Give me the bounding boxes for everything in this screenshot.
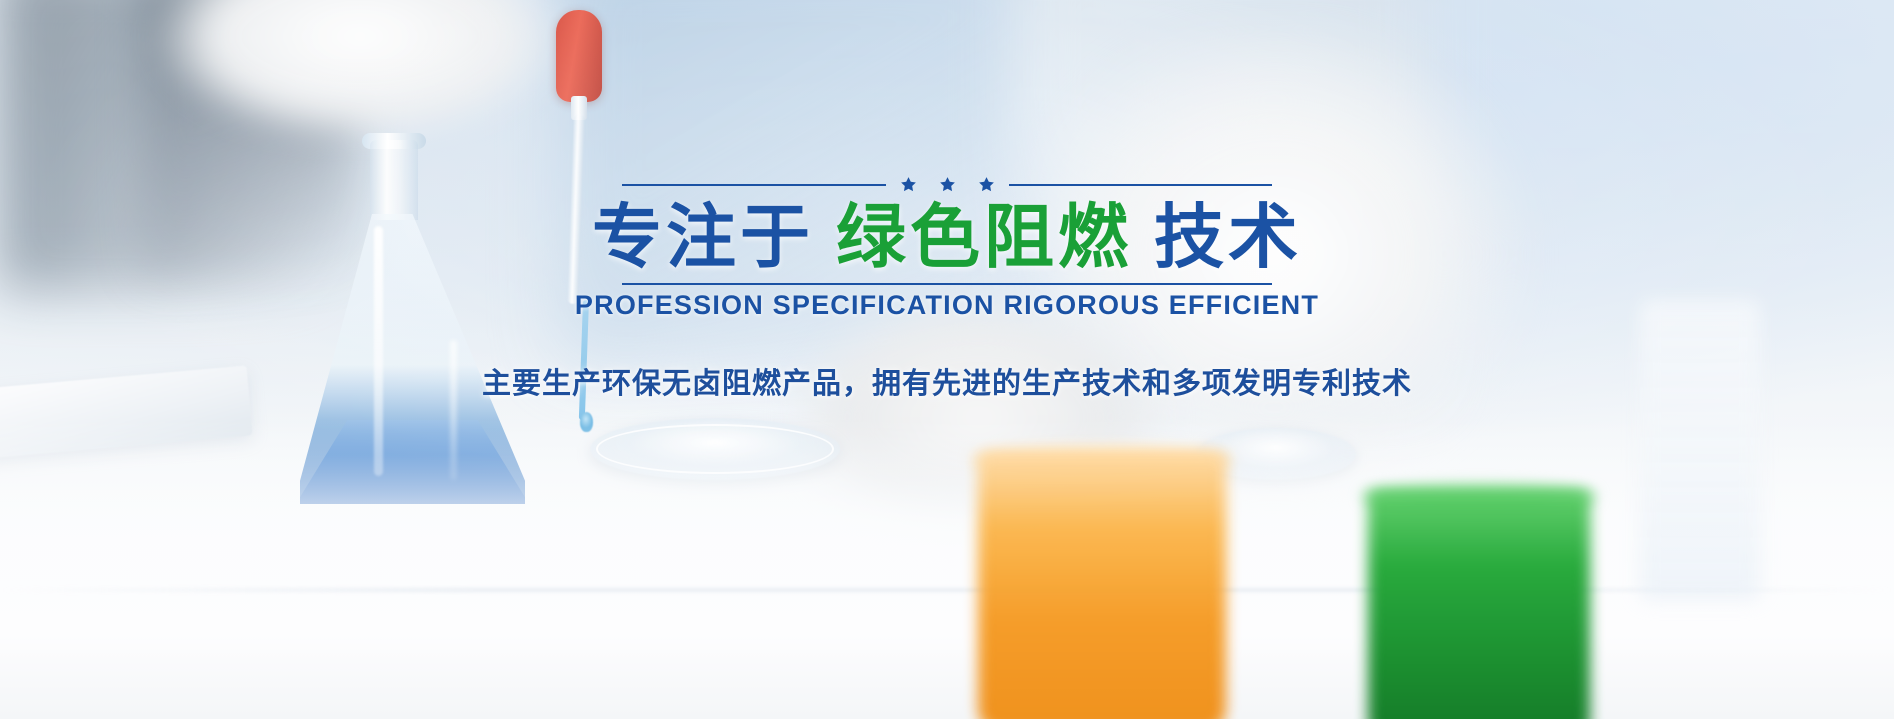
banner-copy: 专注于绿色阻燃技术 PROFESSION SPECIFICATION RIGOR… <box>0 0 1894 719</box>
divider-line-left <box>622 184 886 186</box>
headline-part-2: 绿色阻燃 <box>836 196 1132 278</box>
star-icon <box>900 176 917 193</box>
headline: 专注于绿色阻燃技术 <box>592 196 1302 279</box>
description-chinese: 主要生产环保无卤阻燃产品，拥有先进的生产技术和多项发明专利技术 <box>482 360 1412 402</box>
divider-line-right <box>1009 184 1273 186</box>
divider-line-bottom <box>622 283 1272 285</box>
star-icon <box>939 176 956 193</box>
decorative-divider-top <box>622 176 1272 193</box>
headline-part-3: 技术 <box>1154 196 1302 278</box>
headline-part-1: 专注于 <box>592 196 814 278</box>
hero-banner: 专注于绿色阻燃技术 PROFESSION SPECIFICATION RIGOR… <box>0 0 1894 719</box>
star-group <box>900 176 995 193</box>
star-icon <box>978 176 995 193</box>
subtitle-english: PROFESSION SPECIFICATION RIGOROUS EFFICI… <box>575 290 1319 321</box>
